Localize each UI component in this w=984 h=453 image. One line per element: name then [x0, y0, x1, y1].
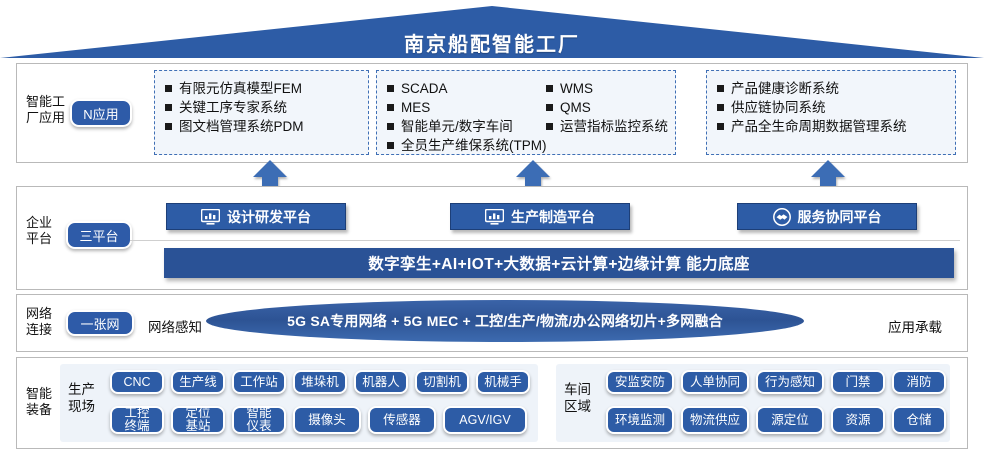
- bullet-icon: [546, 85, 553, 92]
- device-chip[interactable]: 消防: [892, 370, 946, 394]
- device-chip[interactable]: 仓储: [892, 406, 946, 434]
- application-count-pill[interactable]: N应用: [70, 99, 132, 127]
- manufacturing-application-list-left: SCADA MES 智能单元/数字车间 全员生产维保系统(TPM): [387, 79, 542, 155]
- platform-manufacturing-label: 生产制造平台: [511, 207, 595, 227]
- service-application-panel: 产品健康诊断系统 供应链协同系统 产品全生命周期数据管理系统: [706, 70, 956, 155]
- bullet-icon: [165, 85, 172, 92]
- service-application-list: 产品健康诊断系统 供应链协同系统 产品全生命周期数据管理系统: [717, 79, 907, 136]
- device-chip[interactable]: 行为感知: [756, 370, 824, 394]
- list-item: 产品健康诊断系统: [717, 79, 907, 98]
- design-application-panel: 有限元仿真模型FEM 关键工序专家系统 图文档管理系统PDM: [154, 70, 369, 155]
- device-chip[interactable]: 堆垛机: [293, 370, 347, 394]
- list-item: 供应链协同系统: [717, 98, 907, 117]
- application-layer-label: 智能工 厂应用: [26, 94, 65, 126]
- device-chip[interactable]: 智能 仪表: [232, 406, 286, 434]
- application-bearing-tag: 应用承载: [888, 316, 942, 336]
- bullet-icon: [717, 123, 724, 130]
- device-chip[interactable]: 环境监测: [606, 406, 674, 434]
- bullet-icon: [546, 104, 553, 111]
- network-count-pill[interactable]: 一张网: [66, 310, 134, 336]
- production-site-group: 生产 现场 CNC 生产线 工作站 堆垛机 机器人 切割机 机械手 工控 终端 …: [60, 364, 538, 442]
- bullet-icon: [717, 104, 724, 111]
- device-chip[interactable]: CNC: [110, 370, 164, 394]
- device-chip[interactable]: 定位 基站: [171, 406, 225, 434]
- bullet-icon: [387, 123, 394, 130]
- device-chip[interactable]: 机器人: [354, 370, 408, 394]
- list-item: 运营指标监控系统: [546, 117, 668, 136]
- device-chip[interactable]: 安监安防: [606, 370, 674, 394]
- network-layer-label-line2: 连接: [26, 322, 52, 338]
- bullet-icon: [165, 104, 172, 111]
- bullet-icon: [717, 85, 724, 92]
- platform-layer-label-line1: 企业: [26, 215, 52, 231]
- device-chip[interactable]: AGV/IGV: [443, 406, 527, 434]
- device-chip[interactable]: 资源: [831, 406, 885, 434]
- capability-base-bar: 数字孪生+AI+IOT+大数据+云计算+边缘计算 能力底座: [164, 248, 954, 278]
- production-site-label: 生产 现场: [68, 381, 95, 415]
- platform-layer-label: 企业 平台: [26, 215, 52, 247]
- list-item: 产品全生命周期数据管理系统: [717, 117, 907, 136]
- network-perception-tag: 网络感知: [148, 316, 202, 336]
- application-layer-label-line1: 智能工: [26, 94, 65, 110]
- manufacturing-application-list-right: WMS QMS 运营指标监控系统: [546, 79, 668, 155]
- device-layer-label-line2: 装备: [26, 402, 52, 418]
- device-chip[interactable]: 源定位: [756, 406, 824, 434]
- bullet-icon: [387, 85, 394, 92]
- bullet-icon: [387, 142, 394, 149]
- bullet-icon: [165, 123, 172, 130]
- device-chip[interactable]: 切割机: [415, 370, 469, 394]
- device-chip[interactable]: 传感器: [368, 406, 436, 434]
- list-item: 关键工序专家系统: [165, 98, 304, 117]
- handshake-icon: [773, 208, 791, 226]
- device-chip[interactable]: 摄像头: [293, 406, 361, 434]
- platform-design-button[interactable]: 设计研发平台: [166, 203, 346, 230]
- device-chip[interactable]: 工作站: [232, 370, 286, 394]
- platform-divider: [130, 240, 960, 241]
- design-application-list: 有限元仿真模型FEM 关键工序专家系统 图文档管理系统PDM: [165, 79, 304, 136]
- list-item: QMS: [546, 98, 668, 117]
- device-chip[interactable]: 门禁: [831, 370, 885, 394]
- page-title: 南京船配智能工厂: [0, 28, 984, 57]
- bullet-icon: [387, 104, 394, 111]
- monitor-chart-icon: [201, 209, 220, 225]
- device-chip[interactable]: 人单协同: [681, 370, 749, 394]
- platform-layer-label-line2: 平台: [26, 231, 52, 247]
- platform-service-label: 服务协同平台: [798, 207, 882, 227]
- network-lens-label: 5G SA专用网络 + 5G MEC + 工控/生产/物流/办公网络切片+多网融…: [205, 298, 805, 344]
- application-layer-label-line2: 厂应用: [26, 110, 65, 126]
- device-chip[interactable]: 工控 终端: [110, 406, 164, 434]
- platform-manufacturing-button[interactable]: 生产制造平台: [450, 203, 630, 230]
- manufacturing-application-panel: SCADA MES 智能单元/数字车间 全员生产维保系统(TPM) WMS QM…: [376, 70, 676, 155]
- production-site-row1: CNC 生产线 工作站 堆垛机 机器人 切割机 机械手: [110, 370, 530, 394]
- list-item: 图文档管理系统PDM: [165, 117, 304, 136]
- list-item: 全员生产维保系统(TPM): [387, 136, 542, 155]
- device-chip[interactable]: 生产线: [171, 370, 225, 394]
- platform-service-button[interactable]: 服务协同平台: [737, 203, 917, 230]
- list-item: 智能单元/数字车间: [387, 117, 542, 136]
- list-item: 有限元仿真模型FEM: [165, 79, 304, 98]
- list-item: MES: [387, 98, 542, 117]
- workshop-area-row1: 安监安防 人单协同 行为感知 门禁 消防: [606, 370, 946, 394]
- platform-count-pill[interactable]: 三平台: [66, 221, 132, 249]
- workshop-area-label: 车间 区域: [564, 381, 591, 415]
- platform-design-label: 设计研发平台: [227, 207, 311, 227]
- network-layer-label: 网络 连接: [26, 306, 52, 338]
- list-item: SCADA: [387, 79, 542, 98]
- device-layer-label: 智能 装备: [26, 386, 52, 418]
- network-layer-label-line1: 网络: [26, 306, 52, 322]
- list-item: WMS: [546, 79, 668, 98]
- production-site-row2: 工控 终端 定位 基站 智能 仪表 摄像头 传感器 AGV/IGV: [110, 406, 527, 434]
- device-chip[interactable]: 机械手: [476, 370, 530, 394]
- monitor-chart-icon: [485, 209, 504, 225]
- bullet-icon: [546, 123, 553, 130]
- device-chip[interactable]: 物流供应: [681, 406, 749, 434]
- workshop-area-group: 车间 区域 安监安防 人单协同 行为感知 门禁 消防 环境监测 物流供应 源定位…: [556, 364, 950, 442]
- device-layer-label-line1: 智能: [26, 386, 52, 402]
- workshop-area-row2: 环境监测 物流供应 源定位 资源 仓储: [606, 406, 946, 434]
